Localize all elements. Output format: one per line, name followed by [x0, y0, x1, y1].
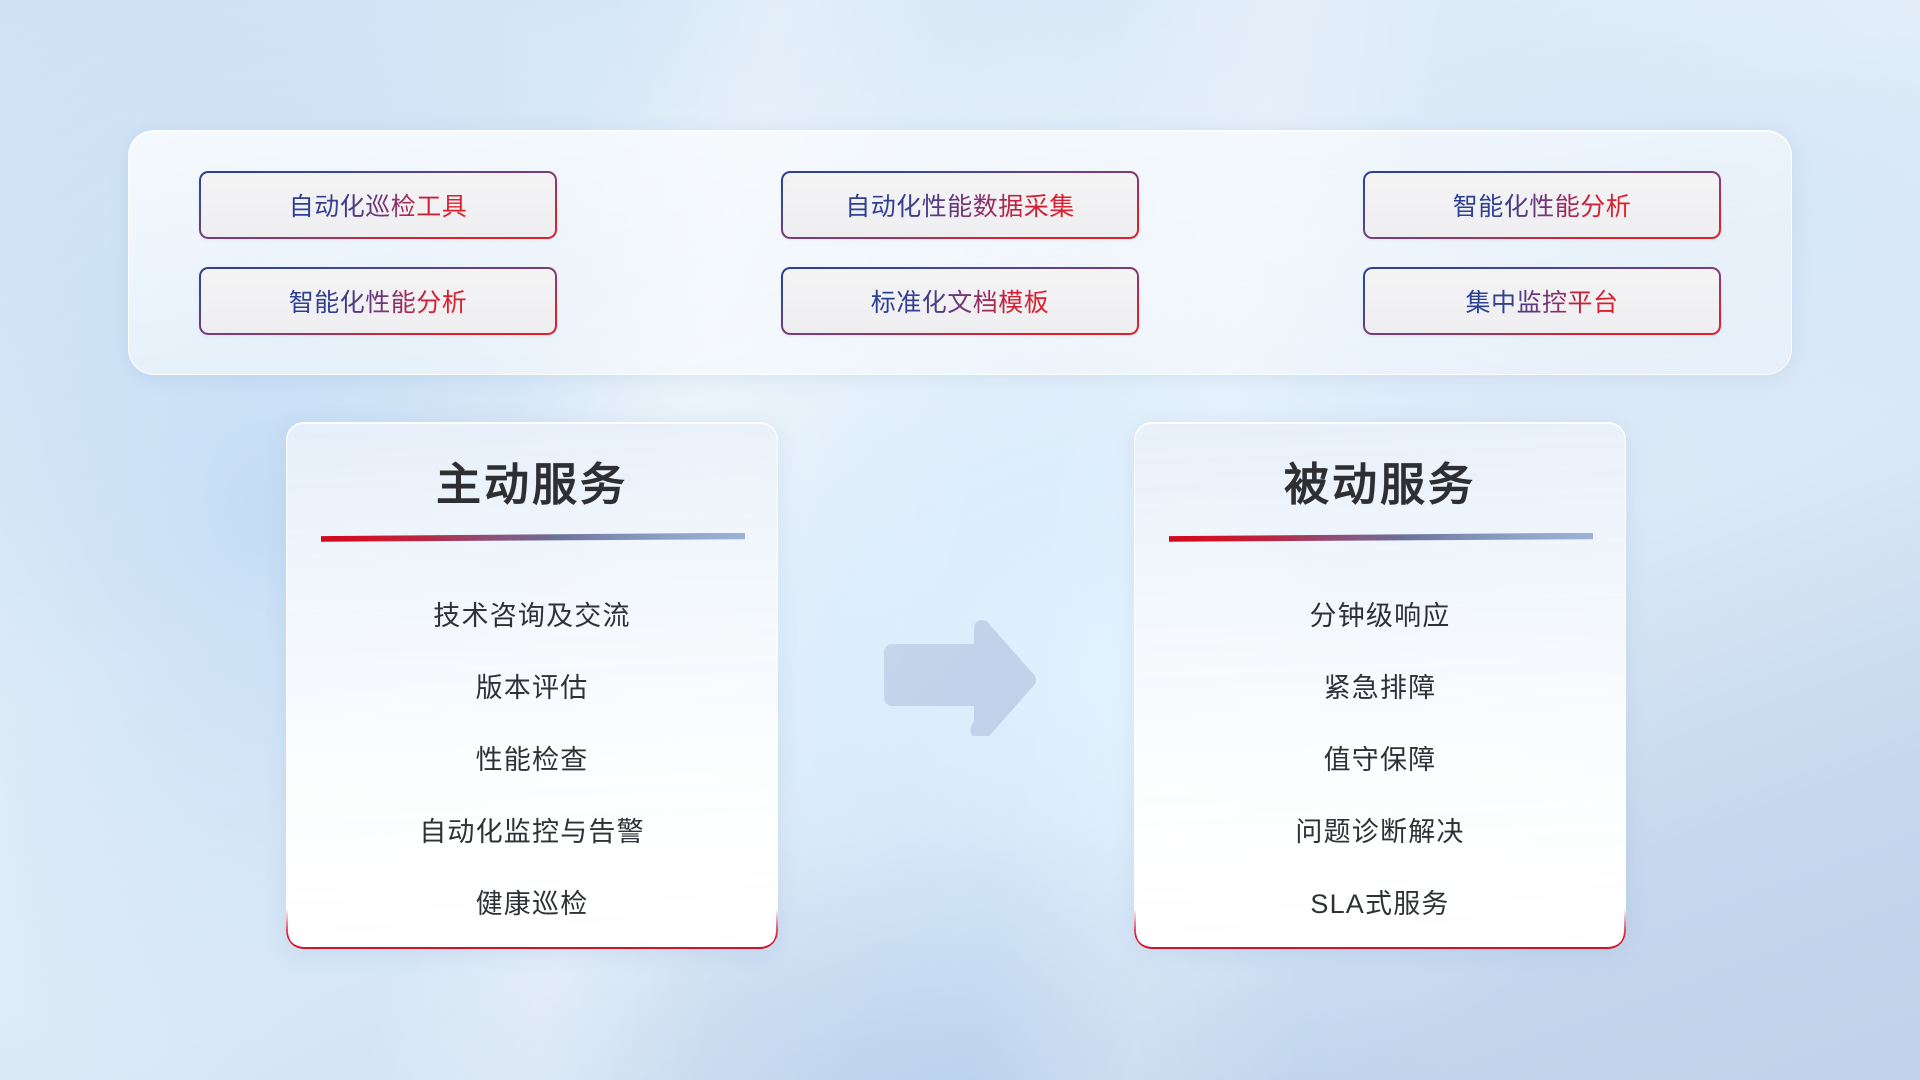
list-item[interactable]: 自动化监控与告警 [321, 796, 743, 868]
list-item[interactable]: 分钟级响应 [1169, 580, 1591, 652]
list-item[interactable]: 版本评估 [321, 652, 743, 724]
capability-panel: 自动化巡检工具 自动化性能数据采集 智能化性能分析 智能化性能分析 标准化文档模… [128, 130, 1792, 375]
card-title-divider [1169, 533, 1593, 542]
capability-pill-intelligent-performance-analysis[interactable]: 智能化性能分析 [1363, 171, 1721, 239]
card-title: 被动服务 [1169, 459, 1591, 511]
capability-pill-automated-inspection-tool[interactable]: 自动化巡检工具 [199, 171, 557, 239]
reactive-service-card: 被动服务 分钟级响应 紧急排障 值守保障 问题诊断解决 SLA式服务 [1134, 422, 1626, 949]
capability-pill-label: 自动化巡检工具 [289, 187, 468, 223]
proactive-service-list: 技术咨询及交流 版本评估 性能检查 自动化监控与告警 健康巡检 [321, 580, 743, 940]
capability-row-2: 智能化性能分析 标准化文档模板 集中监控平台 [199, 267, 1721, 335]
capability-row-1: 自动化巡检工具 自动化性能数据采集 智能化性能分析 [199, 171, 1721, 239]
capability-pill-label: 智能化性能分析 [289, 283, 468, 319]
capability-pill-automated-performance-data-collection[interactable]: 自动化性能数据采集 [781, 171, 1139, 239]
card-title-divider [321, 533, 745, 542]
proactive-service-card: 主动服务 技术咨询及交流 版本评估 性能检查 自动化监控与告警 健康巡检 [286, 422, 778, 949]
capability-pill-label: 自动化性能数据采集 [845, 187, 1075, 223]
reactive-service-list: 分钟级响应 紧急排障 值守保障 问题诊断解决 SLA式服务 [1169, 580, 1591, 940]
capability-pill-label: 智能化性能分析 [1453, 187, 1632, 223]
capability-pill-label: 标准化文档模板 [871, 283, 1050, 319]
capability-pill-intelligent-performance-analysis-2[interactable]: 智能化性能分析 [199, 267, 557, 335]
card-title: 主动服务 [321, 459, 743, 511]
list-item[interactable]: 值守保障 [1169, 724, 1591, 796]
list-item[interactable]: 问题诊断解决 [1169, 796, 1591, 868]
list-item[interactable]: 健康巡检 [321, 868, 743, 940]
capability-pill-label: 集中监控平台 [1465, 283, 1618, 319]
arrow-right-icon [878, 614, 1040, 736]
list-item[interactable]: 性能检查 [321, 724, 743, 796]
list-item[interactable]: SLA式服务 [1169, 868, 1591, 940]
list-item[interactable]: 紧急排障 [1169, 652, 1591, 724]
capability-pill-standardized-document-template[interactable]: 标准化文档模板 [781, 267, 1139, 335]
divider-gradient-bar [321, 533, 745, 542]
list-item[interactable]: 技术咨询及交流 [321, 580, 743, 652]
divider-gradient-bar [1169, 533, 1593, 542]
capability-pill-centralized-monitoring-platform[interactable]: 集中监控平台 [1363, 267, 1721, 335]
